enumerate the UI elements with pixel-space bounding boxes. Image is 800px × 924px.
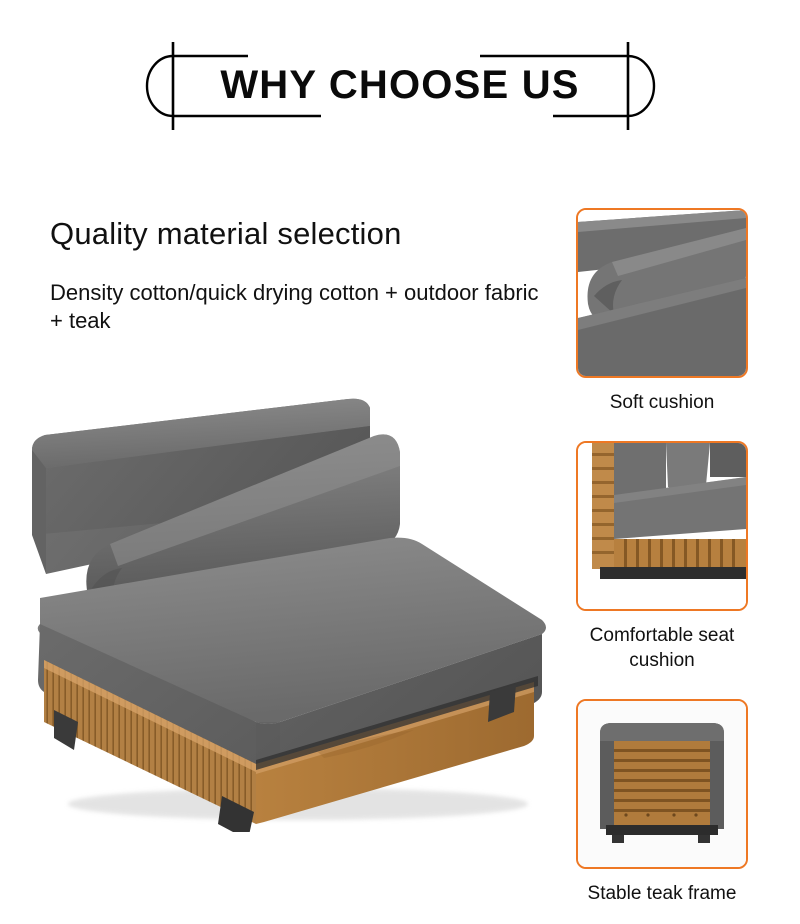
feature-card-frame (576, 441, 748, 611)
feature-card-comfortable-seat[interactable]: Comfortable seat cushion (576, 441, 756, 673)
sofa-illustration (18, 392, 563, 832)
soft-cushion-photo (578, 210, 746, 376)
feature-card-stable-teak-frame[interactable]: Stable teak frame (576, 699, 756, 906)
header-banner: WHY CHOOSE US (0, 0, 800, 172)
intro-text-block: Quality material selection Density cotto… (50, 215, 550, 335)
stable-teak-frame-photo (578, 701, 746, 867)
feature-caption: Comfortable seat cushion (562, 623, 762, 673)
feature-card-frame (576, 208, 748, 378)
page-title: WHY CHOOSE US (0, 62, 800, 108)
feature-card-soft-cushion[interactable]: Soft cushion (576, 208, 756, 415)
hero-product-image (18, 392, 563, 832)
intro-heading: Quality material selection (50, 215, 550, 253)
comfortable-seat-cushion-photo (578, 443, 746, 609)
feature-card-frame (576, 699, 748, 869)
feature-caption: Stable teak frame (562, 881, 762, 906)
intro-description: Density cotton/quick drying cotton + out… (50, 279, 550, 335)
feature-card-list: Soft cushion (576, 208, 756, 906)
feature-caption: Soft cushion (562, 390, 762, 415)
